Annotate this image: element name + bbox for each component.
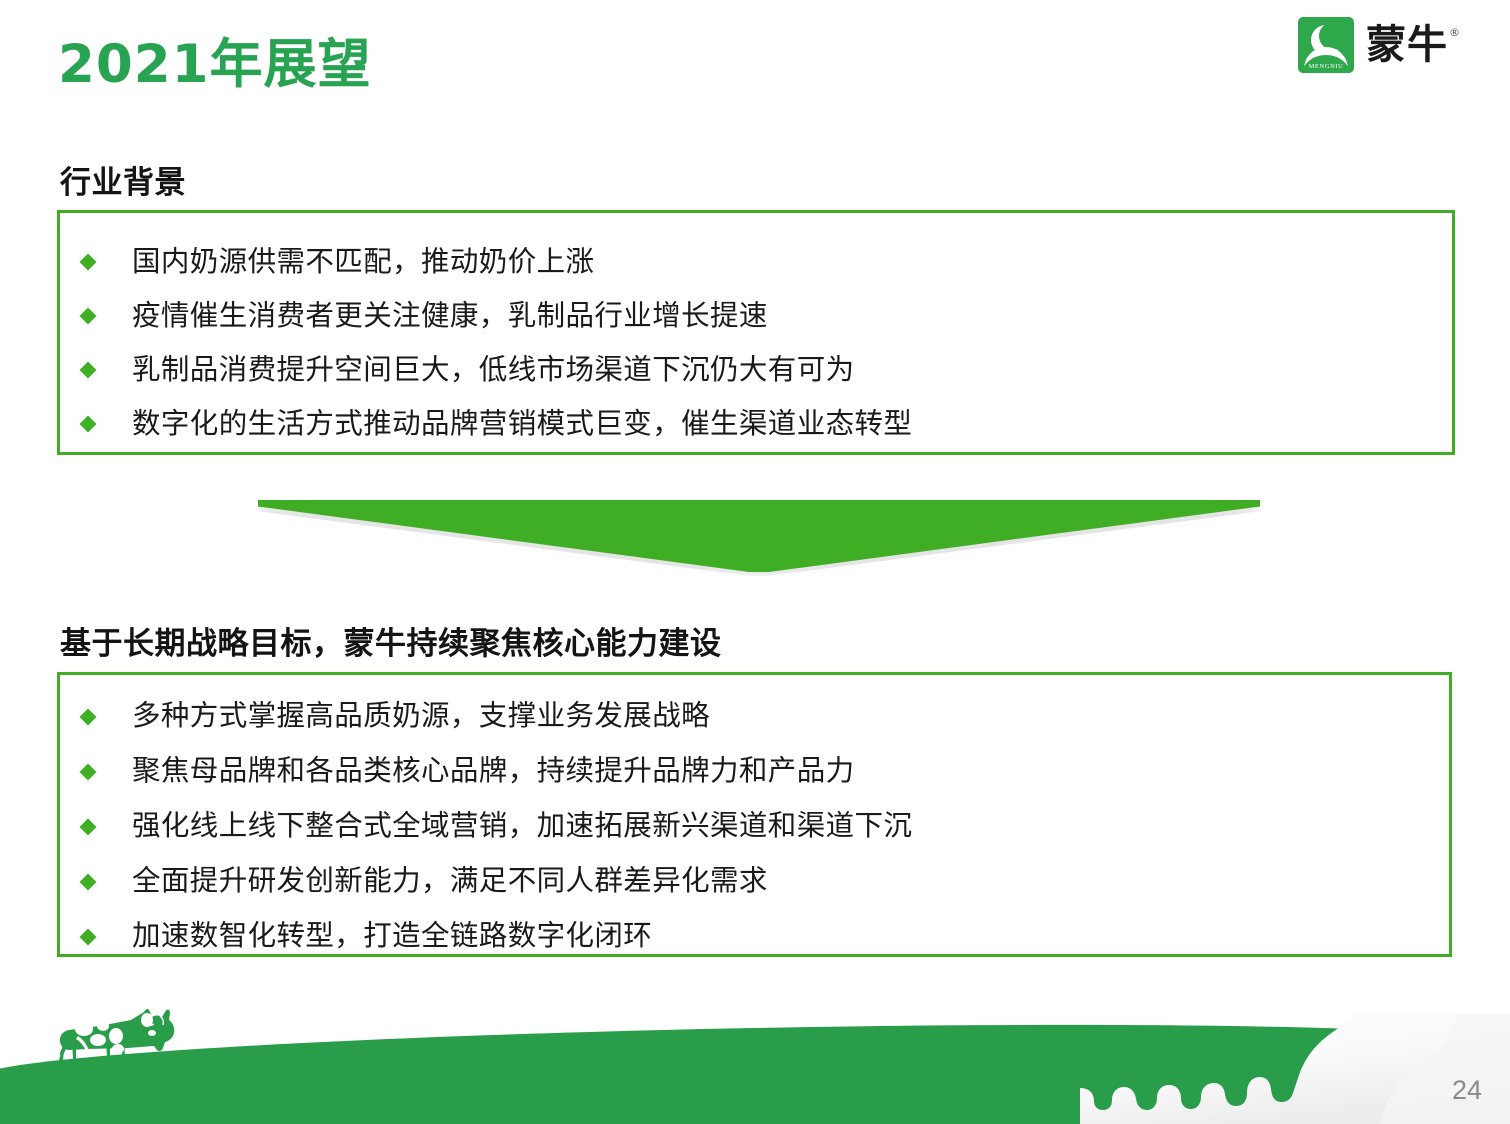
slide: MENGNIU 蒙牛 ® 2021年展望 行业背景 国内奶源供需不匹配，推动奶价… bbox=[0, 0, 1510, 1124]
list-item-label: 强化线上线下整合式全域营销，加速拓展新兴渠道和渠道下沉 bbox=[132, 809, 912, 843]
list-item-label: 国内奶源供需不匹配，推动奶价上涨 bbox=[132, 245, 594, 279]
diamond-bullet-icon bbox=[80, 708, 97, 725]
diamond-bullet-icon bbox=[80, 928, 97, 945]
diamond-bullet-icon bbox=[80, 818, 97, 835]
diamond-bullet-icon bbox=[80, 763, 97, 780]
crescent-moon-cutout bbox=[1319, 22, 1347, 50]
list-item: 乳制品消费提升空间巨大，低线市场渠道下沉仍大有可为 bbox=[60, 343, 1452, 397]
down-chevron-arrow bbox=[258, 500, 1260, 572]
registered-mark-icon: ® bbox=[1449, 27, 1461, 38]
section-heading-strategy: 基于长期战略目标，蒙牛持续聚焦核心能力建设 bbox=[60, 618, 722, 663]
bullet-box-industry-background: 国内奶源供需不匹配，推动奶价上涨 疫情催生消费者更关注健康，乳制品行业增长提速 … bbox=[57, 210, 1455, 455]
list-item: 聚焦母品牌和各品类核心品牌，持续提升品牌力和产品力 bbox=[60, 744, 1449, 799]
list-item-label: 聚焦母品牌和各品类核心品牌，持续提升品牌力和产品力 bbox=[132, 754, 855, 788]
mengniu-logo: MENGNIU 蒙牛 ® bbox=[1298, 10, 1484, 80]
footer: 24 bbox=[0, 994, 1510, 1124]
list-item: 多种方式掌握高品质奶源，支撑业务发展战略 bbox=[60, 689, 1449, 744]
diamond-bullet-icon bbox=[80, 362, 97, 379]
diamond-bullet-icon bbox=[80, 416, 97, 433]
down-chevron-shape bbox=[258, 500, 1260, 572]
diamond-bullet-icon bbox=[80, 254, 97, 271]
list-item: 疫情催生消费者更关注健康，乳制品行业增长提速 bbox=[60, 289, 1452, 343]
list-item-label: 全面提升研发创新能力，满足不同人群差异化需求 bbox=[132, 864, 768, 898]
list-item-label: 疫情催生消费者更关注健康，乳制品行业增长提速 bbox=[132, 299, 768, 333]
logo-brand-name: 蒙牛 ® bbox=[1366, 25, 1448, 65]
page-number: 24 bbox=[1452, 1075, 1482, 1106]
milk-splash-icon bbox=[1080, 1014, 1510, 1124]
section-heading-industry-background: 行业背景 bbox=[60, 157, 186, 202]
diamond-bullet-icon bbox=[80, 308, 97, 325]
logo-brand-name-text: 蒙牛 bbox=[1366, 22, 1448, 68]
list-item: 数字化的生活方式推动品牌营销模式巨变，催生渠道业态转型 bbox=[60, 397, 1452, 451]
diamond-bullet-icon bbox=[80, 873, 97, 890]
logo-mark-text: MENGNIU bbox=[1298, 63, 1354, 70]
list-item-label: 乳制品消费提升空间巨大，低线市场渠道下沉仍大有可为 bbox=[132, 353, 855, 387]
list-item: 强化线上线下整合式全域营销，加速拓展新兴渠道和渠道下沉 bbox=[60, 799, 1449, 854]
bullet-box-strategy: 多种方式掌握高品质奶源，支撑业务发展战略 聚焦母品牌和各品类核心品牌，持续提升品… bbox=[57, 672, 1452, 957]
page-title: 2021年展望 bbox=[58, 38, 372, 91]
mengniu-logo-mark: MENGNIU bbox=[1298, 17, 1354, 73]
list-item: 国内奶源供需不匹配，推动奶价上涨 bbox=[60, 235, 1452, 289]
list-item-label: 加速数智化转型，打造全链路数字化闭环 bbox=[132, 919, 652, 953]
list-item: 加速数智化转型，打造全链路数字化闭环 bbox=[60, 909, 1449, 964]
list-item-label: 多种方式掌握高品质奶源，支撑业务发展战略 bbox=[132, 699, 710, 733]
list-item: 全面提升研发创新能力，满足不同人群差异化需求 bbox=[60, 854, 1449, 909]
cow-icon bbox=[48, 1006, 188, 1068]
list-item-label: 数字化的生活方式推动品牌营销模式巨变，催生渠道业态转型 bbox=[132, 407, 912, 441]
